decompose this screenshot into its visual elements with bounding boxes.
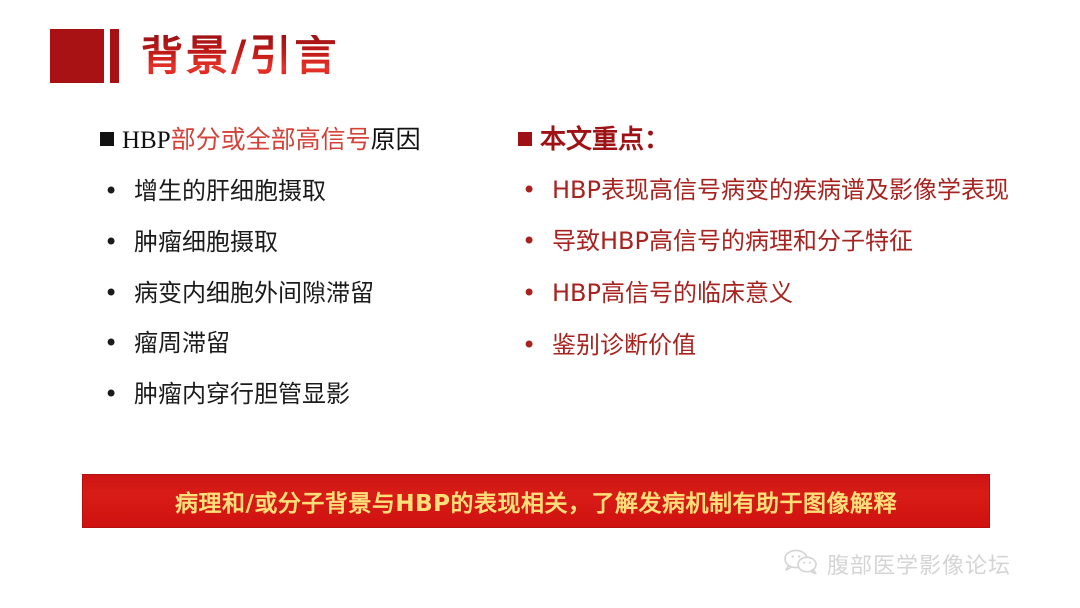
watermark: 腹部医学影像论坛 (784, 548, 1011, 580)
list-item: 肿瘤内穿行胆管显影 (100, 379, 520, 411)
left-column: HBP部分或全部高信号原因 增生的肝细胞摄取 肿瘤细胞摄取 病变内细胞外间隙滞留… (100, 124, 520, 430)
square-bullet-icon (100, 132, 114, 146)
list-item: HBP表现高信号病变的疾病谱及影像学表现 (518, 175, 1018, 207)
title-square-marker (50, 29, 104, 83)
right-heading-label: 本文重点： (540, 124, 670, 157)
right-column: 本文重点： HBP表现高信号病变的疾病谱及影像学表现 导致HBP高信号的病理和分… (518, 124, 1018, 381)
list-item: 增生的肝细胞摄取 (100, 176, 520, 208)
list-item: HBP高信号的临床意义 (518, 278, 1018, 310)
left-heading-red-part: 部分或全部高信号 (171, 125, 371, 154)
list-item: 导致HBP高信号的病理和分子特征 (518, 226, 1018, 258)
square-bullet-icon (518, 132, 532, 146)
watermark-label: 腹部医学影像论坛 (827, 548, 1011, 580)
title-bar-marker (110, 29, 119, 83)
page-title: 背景/引言 (141, 35, 339, 77)
right-bullet-list: HBP表现高信号病变的疾病谱及影像学表现 导致HBP高信号的病理和分子特征 HB… (518, 175, 1018, 362)
slide-canvas: 背景/引言 HBP部分或全部高信号原因 增生的肝细胞摄取 肿瘤细胞摄取 病变内细… (0, 0, 1080, 608)
left-bullet-list: 增生的肝细胞摄取 肿瘤细胞摄取 病变内细胞外间隙滞留 瘤周滞留 肿瘤内穿行胆管显… (100, 176, 520, 410)
left-column-heading: HBP部分或全部高信号原因 (100, 124, 520, 156)
left-heading-black-suffix: 原因 (371, 125, 421, 154)
right-column-heading: 本文重点： (518, 124, 1018, 157)
wechat-icon (784, 549, 818, 580)
list-item: 病变内细胞外间隙滞留 (100, 278, 520, 310)
summary-banner: 病理和/或分子背景与HBP的表现相关，了解发病机制有助于图像解释 (82, 474, 990, 528)
slide-title-block: 背景/引言 (50, 28, 339, 84)
list-item: 肿瘤细胞摄取 (100, 227, 520, 259)
list-item: 瘤周滞留 (100, 328, 520, 360)
list-item: 鉴别诊断价值 (518, 330, 1018, 362)
left-heading-latin: HBP (122, 127, 171, 154)
summary-banner-text: 病理和/或分子背景与HBP的表现相关，了解发病机制有助于图像解释 (175, 484, 897, 518)
